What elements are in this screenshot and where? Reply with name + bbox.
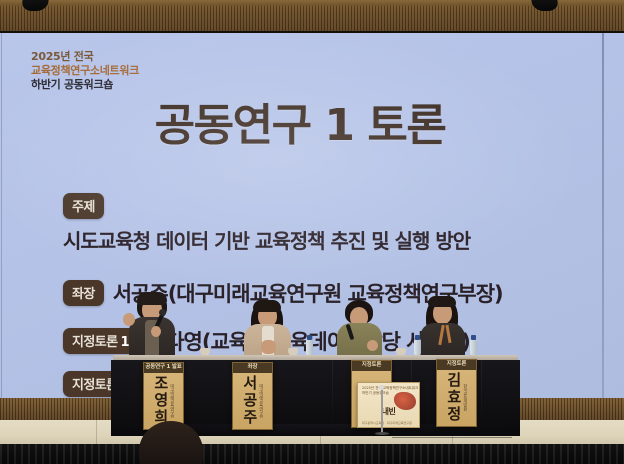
hair-front xyxy=(253,300,281,312)
bottle-cap xyxy=(471,335,476,340)
floor-cable xyxy=(392,437,512,438)
nameplate: 공동연구 1 발표 조영희 대구미래교육연구원 xyxy=(143,362,184,430)
microphone-stand-base xyxy=(375,432,389,435)
nameplate-org: 대구미래교육연구원 xyxy=(259,384,263,418)
hair-front xyxy=(137,292,167,305)
nameplate-body: 김효정 한국교육개발원 xyxy=(437,370,476,427)
nameplate-org: 한국교육개발원 xyxy=(463,384,467,411)
hand-right xyxy=(367,340,378,351)
nameplate: 좌장 서공주 대구미래교육연구원 xyxy=(232,362,273,430)
skirt-fold xyxy=(481,360,482,432)
microphone-head-icon xyxy=(159,309,166,316)
skirt-fold xyxy=(332,360,333,432)
guest-placard: 2025년 전국 교육정책연구소네트워크 하반기 공동워크숍 내빈 대구광역시교… xyxy=(357,382,420,428)
nameplate-body: 조영희 대구미래교육연구원 xyxy=(144,373,183,430)
guest-placard-label: 내빈 xyxy=(382,406,396,417)
microphone-stand-head-icon xyxy=(379,385,384,390)
hair-front xyxy=(428,296,456,307)
water-bottle xyxy=(414,339,421,356)
microphone-stand xyxy=(381,388,383,434)
bottle-cap xyxy=(415,335,420,340)
water-bottle xyxy=(306,339,313,356)
decorative-emblem-icon xyxy=(394,392,416,410)
nameplate-role: 공동연구 1 발표 xyxy=(144,363,183,373)
screenshot-root: 2025년 전국 교육정책연구소네트워크 하반기 공동워크숍 공동연구 1 토론… xyxy=(0,0,624,464)
hand-left xyxy=(123,313,135,326)
stage-apron xyxy=(0,444,624,464)
nameplate-name: 서공주 xyxy=(242,375,257,426)
nameplate-body: 서공주 대구미래교육연구원 xyxy=(233,373,272,430)
nameplate: 지정토론 김효정 한국교육개발원 xyxy=(436,359,477,427)
nameplate-name: 조영희 xyxy=(153,375,168,426)
hands-clasped xyxy=(261,340,276,354)
nameplate-role: 지정토론 xyxy=(352,361,391,371)
nameplate-role: 좌장 xyxy=(233,363,272,373)
bottle-cap xyxy=(307,335,312,340)
hand-right xyxy=(151,326,161,337)
water-bottle xyxy=(470,339,477,356)
guest-placard-footer: 대구광역시교육청 · 대구미래교육연구원 xyxy=(362,421,412,425)
nameplate-name: 김효정 xyxy=(446,372,461,423)
nameplate-org: 대구미래교육연구원 xyxy=(170,384,174,418)
nameplate-role: 지정토론 xyxy=(437,360,476,370)
